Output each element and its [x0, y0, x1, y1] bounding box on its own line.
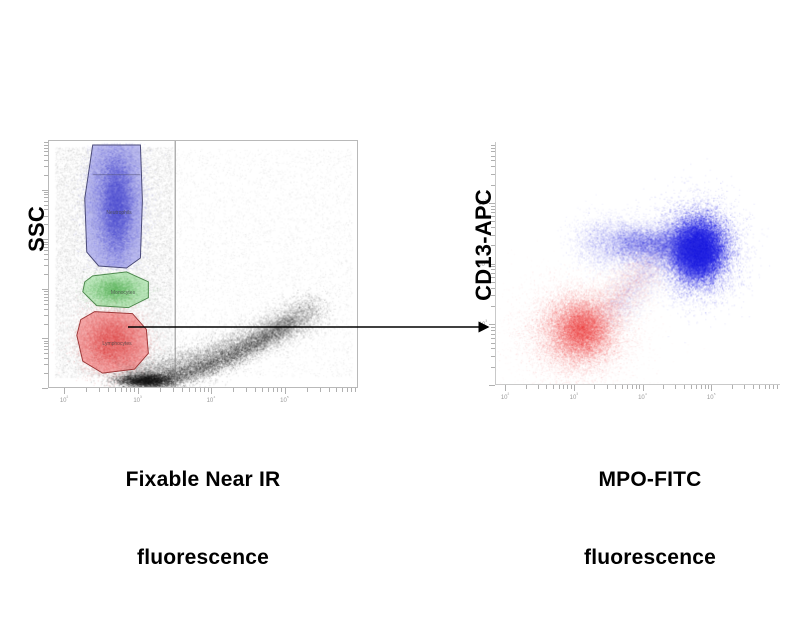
y-tick-minor [44, 151, 48, 152]
y-tick-minor [491, 343, 495, 344]
x-tick-minor [262, 388, 263, 392]
y-tick-major [42, 388, 48, 389]
right-y-axis-title: CD13-APC [471, 160, 497, 330]
right-plot-frame [495, 142, 780, 385]
y-tick-minor [44, 309, 48, 310]
x-tick-label: 10³ [133, 395, 141, 405]
left-x-axis-title-line1: Fixable Near IR [88, 467, 318, 493]
green-gate-label: Monocytes [111, 290, 135, 296]
y-tick-minor [44, 148, 48, 149]
x-tick-minor [759, 385, 760, 389]
x-tick-minor [769, 385, 770, 389]
y-tick-minor [44, 304, 48, 305]
right-x-axis-title: MPO-FITC fluorescence [540, 415, 760, 623]
x-tick-label: 10⁴ [207, 395, 216, 405]
y-tick-minor [491, 156, 495, 157]
x-tick-minor [160, 388, 161, 392]
y-tick-minor [491, 145, 495, 146]
x-tick-minor [691, 385, 692, 389]
red-gate-label: Lymphocytes [102, 341, 131, 347]
x-tick-minor [173, 388, 174, 392]
y-tick-minor [44, 346, 48, 347]
x-tick-minor [632, 385, 633, 389]
x-tick-minor [329, 388, 330, 392]
y-tick-minor [491, 356, 495, 357]
x-tick-minor [546, 385, 547, 389]
x-tick-minor [615, 385, 616, 389]
x-tick-major [711, 385, 712, 391]
x-tick-minor [538, 385, 539, 389]
left-plot-frame: Neutrophils Monocytes Lymphocytes [48, 140, 358, 388]
x-tick-minor [134, 388, 135, 392]
y-tick-minor [44, 324, 48, 325]
x-tick-minor [594, 385, 595, 389]
x-tick-major [643, 385, 644, 391]
x-tick-major [285, 388, 286, 394]
x-tick-label: 10² [60, 395, 68, 405]
x-tick-label: 10² [501, 392, 509, 402]
y-tick-minor [491, 334, 495, 335]
y-tick-minor [44, 343, 48, 344]
x-tick-minor [126, 388, 127, 392]
x-tick-minor [200, 388, 201, 392]
right-x-axis-title-line1: MPO-FITC [540, 467, 760, 493]
y-tick-minor [44, 300, 48, 301]
y-tick-minor [44, 353, 48, 354]
x-tick-minor [320, 388, 321, 392]
x-tick-minor [277, 388, 278, 392]
x-tick-minor [732, 385, 733, 389]
x-tick-minor [567, 385, 568, 389]
y-tick-minor [44, 297, 48, 298]
y-tick-minor [491, 367, 495, 368]
x-tick-minor [121, 388, 122, 392]
x-tick-minor [627, 385, 628, 389]
x-tick-minor [636, 385, 637, 389]
x-tick-minor [559, 385, 560, 389]
y-tick-minor [44, 160, 48, 161]
x-tick-minor [255, 388, 256, 392]
y-tick-minor [44, 142, 48, 143]
x-tick-minor [701, 385, 702, 389]
x-tick-minor [99, 388, 100, 392]
y-tick-minor [44, 294, 48, 295]
x-tick-minor [708, 385, 709, 389]
x-tick-minor [246, 388, 247, 392]
x-tick-minor [684, 385, 685, 389]
left-plot-events [49, 141, 357, 387]
flow-cytometry-figure: Neutrophils Monocytes Lymphocytes 10²10³… [0, 0, 800, 600]
x-tick-minor [773, 385, 774, 389]
x-tick-minor [115, 388, 116, 392]
right-plot-events [496, 142, 780, 384]
left-plot-gates [49, 141, 357, 387]
x-tick-minor [355, 388, 356, 392]
x-tick-label: 10⁵ [280, 395, 289, 405]
x-tick-minor [705, 385, 706, 389]
x-tick-label: 10⁴ [638, 392, 647, 402]
x-tick-major [64, 388, 65, 394]
y-tick-minor [44, 364, 48, 365]
x-tick-minor [189, 388, 190, 392]
x-tick-minor [777, 385, 778, 389]
y-tick-minor [44, 358, 48, 359]
y-tick-minor [44, 349, 48, 350]
x-tick-minor [753, 385, 754, 389]
x-tick-minor [268, 388, 269, 392]
x-tick-minor [351, 388, 352, 392]
x-tick-major [574, 385, 575, 391]
x-tick-label: 10⁵ [707, 392, 716, 402]
x-tick-minor [281, 388, 282, 392]
x-tick-minor [273, 388, 274, 392]
x-tick-minor [336, 388, 337, 392]
x-tick-minor [571, 385, 572, 389]
x-tick-label: 10³ [570, 392, 578, 402]
y-tick-minor [44, 315, 48, 316]
x-tick-minor [342, 388, 343, 392]
y-tick-minor [491, 151, 495, 152]
x-tick-minor [744, 385, 745, 389]
y-tick-minor [44, 155, 48, 156]
blue-gate[interactable] [85, 145, 143, 268]
y-tick-minor [44, 341, 48, 342]
x-tick-minor [663, 385, 664, 389]
x-tick-minor [307, 388, 308, 392]
right-dotplot-panel: 10³10⁴10⁵ 10²10³10⁴10⁵ [495, 142, 780, 385]
x-tick-minor [233, 388, 234, 392]
x-tick-minor [765, 385, 766, 389]
x-tick-minor [607, 385, 608, 389]
left-dotplot-panel: Neutrophils Monocytes Lymphocytes 10²10³… [48, 140, 358, 388]
y-tick-minor [44, 373, 48, 374]
y-tick-minor [491, 330, 495, 331]
x-tick-minor [108, 388, 109, 392]
x-tick-minor [86, 388, 87, 392]
left-y-axis-title: SSC [24, 184, 50, 274]
left-x-axis-title-line2: fluorescence [88, 545, 318, 571]
x-tick-minor [526, 385, 527, 389]
x-tick-minor [204, 388, 205, 392]
y-tick-major [42, 289, 48, 290]
y-tick-major [489, 385, 495, 386]
x-tick-minor [639, 385, 640, 389]
x-tick-major [138, 388, 139, 394]
y-tick-minor [44, 291, 48, 292]
y-tick-minor [44, 166, 48, 167]
x-tick-major [211, 388, 212, 394]
y-tick-minor [44, 274, 48, 275]
y-tick-minor [491, 348, 495, 349]
x-tick-minor [347, 388, 348, 392]
x-tick-minor [622, 385, 623, 389]
y-tick-minor [491, 148, 495, 149]
y-tick-minor [44, 145, 48, 146]
x-tick-minor [563, 385, 564, 389]
left-x-axis-title: Fixable Near IR fluorescence [88, 415, 318, 623]
x-tick-minor [130, 388, 131, 392]
x-tick-minor [675, 385, 676, 389]
x-tick-minor [182, 388, 183, 392]
y-tick-major [42, 338, 48, 339]
x-tick-minor [553, 385, 554, 389]
x-tick-minor [195, 388, 196, 392]
blue-gate-label: Neutrophils [106, 210, 131, 216]
right-x-axis-title-line2: fluorescence [540, 545, 760, 571]
x-tick-minor [208, 388, 209, 392]
y-tick-minor [491, 338, 495, 339]
x-tick-major [505, 385, 506, 391]
x-tick-minor [696, 385, 697, 389]
y-tick-minor [44, 175, 48, 176]
